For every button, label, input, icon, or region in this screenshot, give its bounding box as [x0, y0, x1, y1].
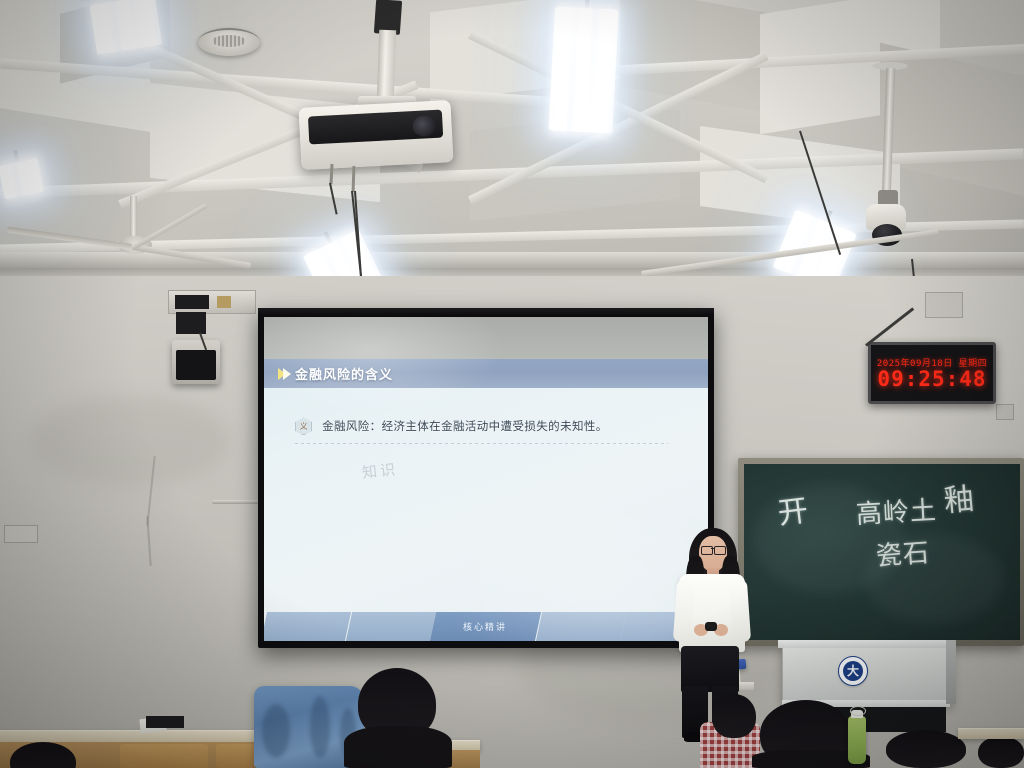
emblem-glyph: 大: [847, 665, 859, 677]
footer-segment: [536, 612, 626, 641]
smoke-detector: [198, 28, 260, 56]
footer-segment: [346, 612, 436, 641]
chair-back: [120, 744, 208, 768]
presenter-glasses: [714, 546, 726, 555]
slide-footer-nav: 核心精讲: [264, 612, 708, 641]
cable-junction-box: [168, 290, 256, 314]
university-emblem: 大: [838, 656, 868, 686]
projection-screen: 金融风险的含义 义 金融风险：经济主体在金融活动中遭受损失的未知性。 知识 核心…: [264, 317, 708, 641]
chevron-icon: [278, 368, 288, 380]
wall-outlet: [4, 525, 38, 543]
student-body: [344, 726, 452, 768]
student-head: [886, 730, 966, 768]
wall-panel: [996, 404, 1014, 420]
student-head: [978, 736, 1024, 768]
slide-top-margin: [264, 317, 708, 359]
slide-chalk-ghost: 知识: [361, 458, 399, 483]
fluorescent-light: [548, 0, 619, 134]
slide-body: 义 金融风险：经济主体在金融活动中遭受损失的未知性。: [295, 417, 608, 435]
bottle-ring: [850, 706, 866, 716]
slide-title-bar: 金融风险的含义: [264, 359, 708, 388]
chalk-note-kai: 开: [776, 496, 809, 529]
student-desk: [958, 728, 1024, 739]
slide-body-text: 金融风险：经济主体在金融活动中遭受损失的未知性。: [322, 418, 608, 434]
emblem-inner: 大: [843, 661, 863, 681]
chalk-note-kaolin: 高岭土: [855, 498, 937, 528]
wall-speaker: [172, 340, 220, 384]
footer-segment: [264, 612, 351, 641]
classroom-photo: 2025年09月18日 星期四 09:25:48 金融风险的含义 义 金融风险：…: [0, 0, 1024, 768]
footer-segment-active: 核心精讲: [430, 612, 541, 641]
presenter-clicker: [705, 622, 717, 631]
screen-roller: [258, 308, 714, 317]
desk-item: [146, 716, 184, 728]
lectern-side: [946, 640, 956, 704]
chalk-note-glaze: 釉: [943, 485, 976, 518]
clock-time: 09:25:48: [877, 369, 986, 390]
lectern-top: [778, 640, 954, 648]
chalk-note-porcelain-stone: 瓷石: [875, 540, 931, 570]
bullet-hex-icon: 义: [295, 417, 312, 435]
speaker-bracket: [176, 312, 206, 334]
digital-clock: 2025年09月18日 星期四 09:25:48: [868, 342, 996, 404]
green-water-bottle: [848, 716, 866, 764]
footer-active-label: 核心精讲: [464, 620, 508, 633]
student-head: [712, 694, 756, 738]
slide-title: 金融风险的含义: [295, 364, 393, 383]
wall-panel: [925, 292, 963, 318]
projected-slide: 金融风险的含义 义 金融风险：经济主体在金融活动中遭受损失的未知性。 知识 核心…: [264, 317, 708, 641]
